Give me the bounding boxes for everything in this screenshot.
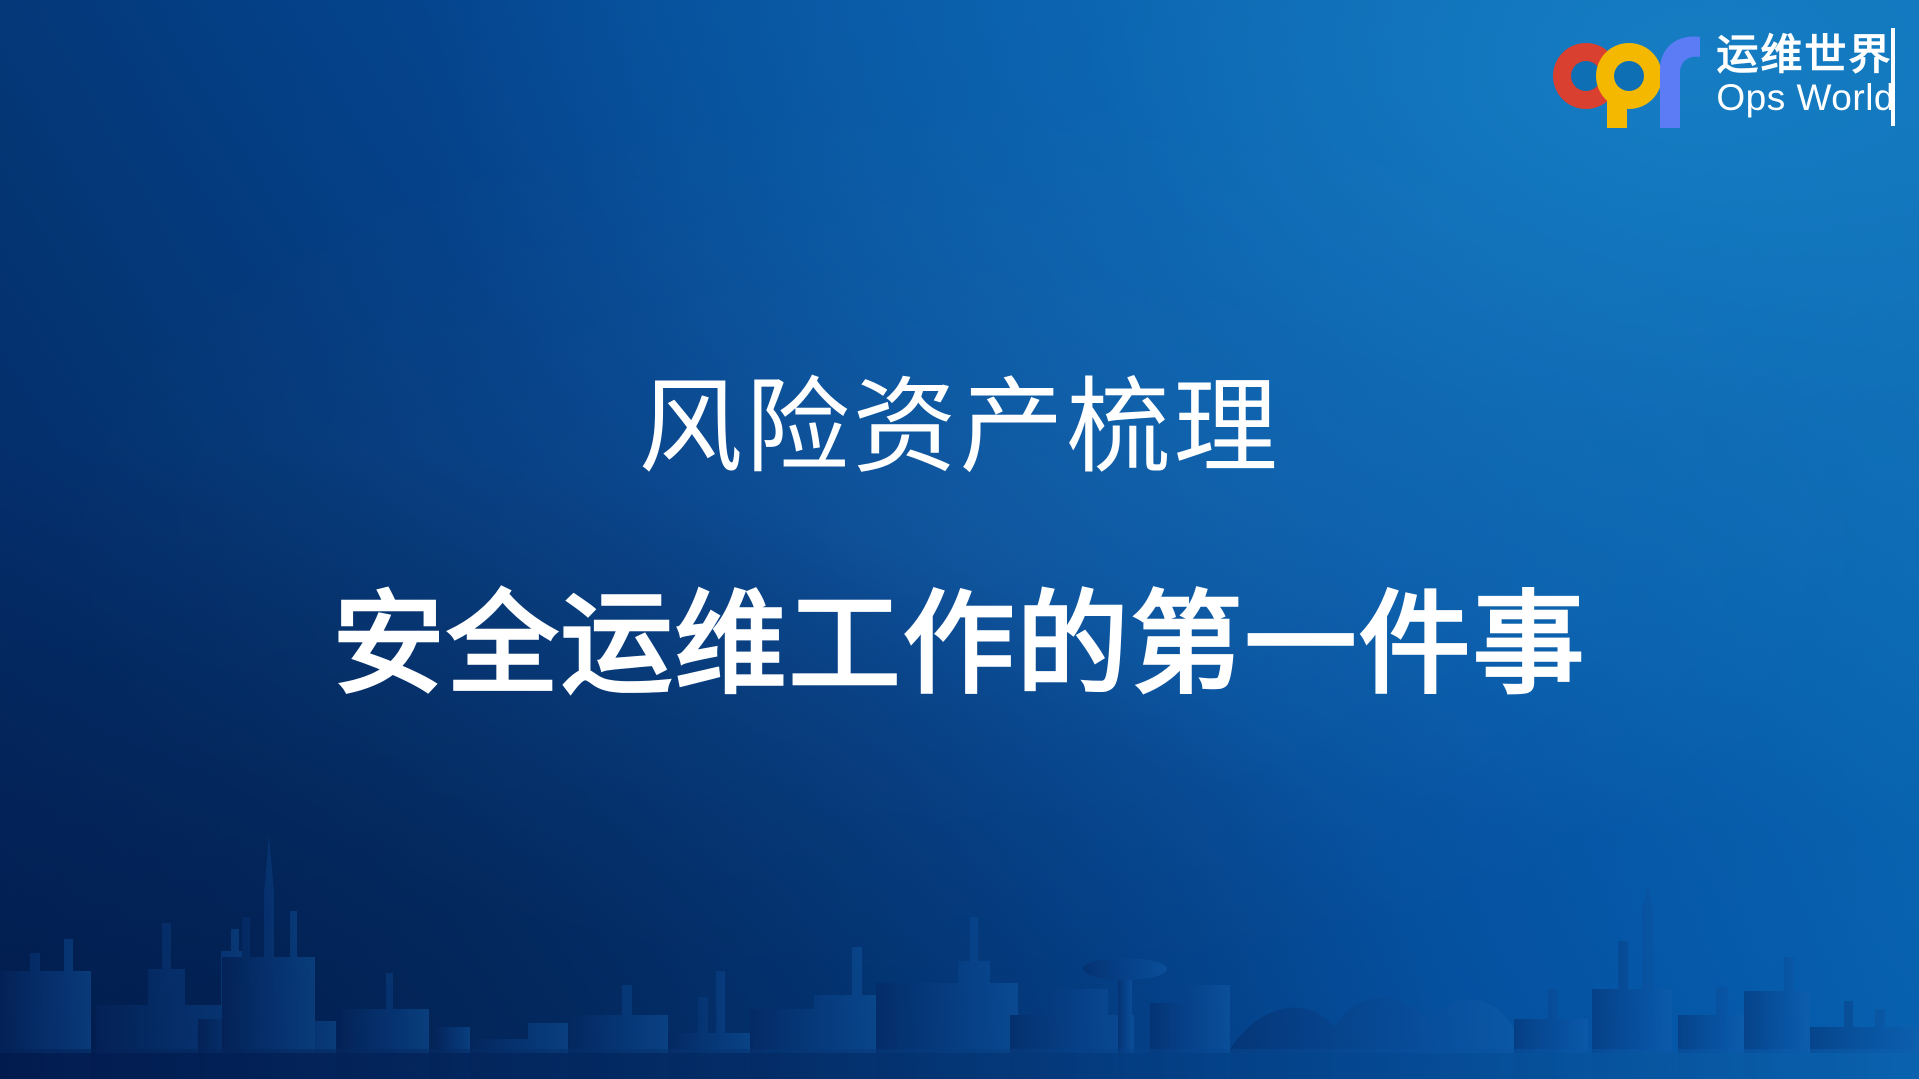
slide-title-primary: 风险资产梳理 xyxy=(0,368,1919,486)
brand-name-en: Ops World xyxy=(1716,78,1895,118)
slide-title-block: 风险资产梳理 安全运维工作的第一件事 xyxy=(0,368,1919,708)
brand-name-cn: 运维世界 xyxy=(1716,32,1895,78)
brand-logo: 运维世界 Ops World xyxy=(1550,22,1895,130)
bottom-accent-band xyxy=(0,1053,1919,1079)
logo-divider-rule xyxy=(1891,28,1895,126)
slide-title-secondary: 安全运维工作的第一件事 xyxy=(0,582,1919,708)
background-vignette xyxy=(0,0,1919,1079)
title-slide: 运维世界 Ops World 风险资产梳理 安全运维工作的第一件事 xyxy=(0,0,1919,1079)
ops-logo-mark-icon xyxy=(1550,24,1702,128)
brand-logo-wordmark: 运维世界 Ops World xyxy=(1716,22,1895,130)
city-skyline-silhouette xyxy=(0,719,1919,1079)
